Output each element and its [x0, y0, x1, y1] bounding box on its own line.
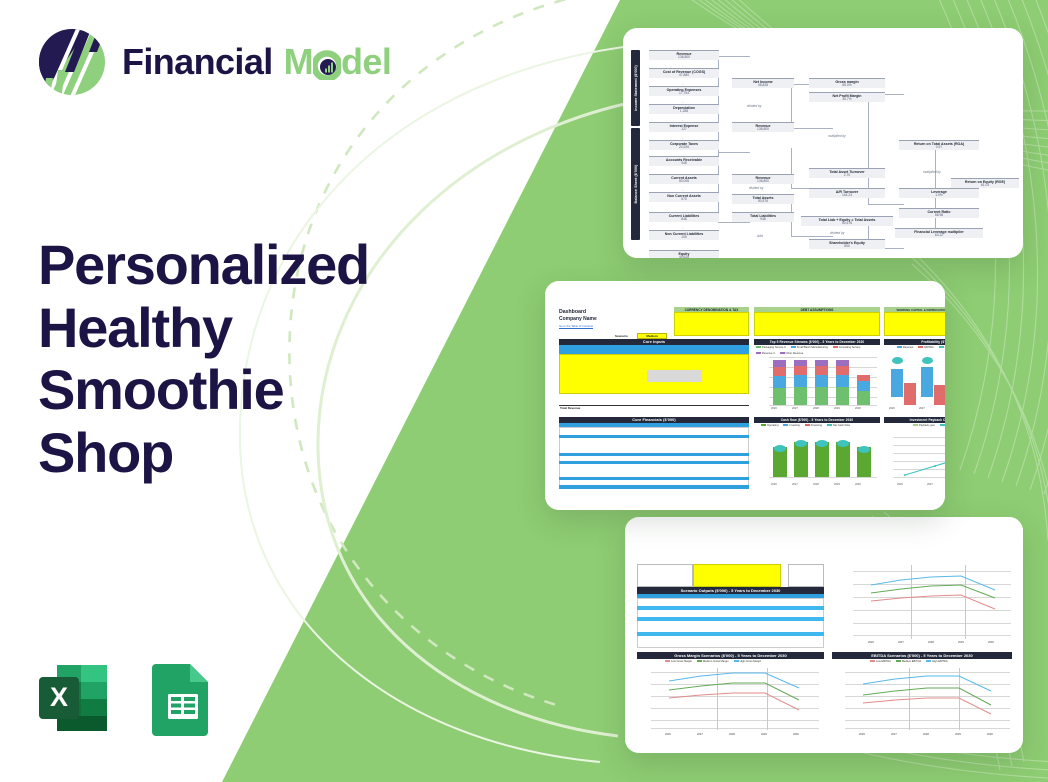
scenario-active-values	[788, 564, 824, 587]
dashboard-company-name: Company Name	[559, 316, 597, 322]
fc-box-col3-2: Total Asset Turnover 2.70	[809, 168, 885, 178]
dashboard-toc-link[interactable]: Go to the Table of Contents	[559, 324, 593, 328]
legend-revenue-streams: Packaging Service A Small Batch Manufact…	[756, 346, 880, 355]
fc-op-5: multiplied by	[923, 170, 941, 174]
panel-body-currency	[674, 312, 749, 336]
fc-box-col3-0: Gross margin 65.0%	[809, 78, 885, 88]
scenario-outputs-header: Scenario Outputs ($'000) - 5 Years to De…	[637, 587, 824, 594]
chart-title-profitability: Profitability ($'000) - 5 Years to Decem…	[884, 339, 945, 345]
screenshot-card-scenarios[interactable]: Scenario Outputs ($'000) - 5 Years to De…	[625, 517, 1023, 753]
fc-box-col1-11: Equity 49,628	[649, 250, 719, 258]
format-badges: X	[36, 660, 220, 736]
scenario-label: Scenario	[615, 334, 628, 338]
financial-model-circle-logo	[36, 26, 108, 98]
page-title: Personalized Healthy Smoothie Shop	[38, 234, 458, 485]
fc-box-col2-4: Total Liabilities 948	[732, 212, 794, 222]
fc-box-col1-9: Current Liabilities 848	[649, 212, 719, 222]
legend-ebitda: Low EBITDA Medium EBITDA High EBITDA	[870, 660, 1010, 663]
headline-line-1: Personalized	[38, 234, 458, 297]
legend-profitability: Revenue EBITDA EBITDA %	[897, 346, 945, 349]
fc-box-col3-1: Net Profit Margin 35.7%	[809, 92, 885, 102]
svg-text:X: X	[50, 682, 68, 712]
fc-op-4: divided by	[830, 231, 844, 235]
fc-box-col1-3: Depreciation 1,285	[649, 104, 719, 114]
legend-gross-margin: Low Gross Margin Medium Gross Margin Hig…	[665, 660, 815, 663]
fc-box-col2-1: Revenue 136,800	[732, 122, 794, 132]
fc-box-col5-0: Return on Equity (ROE) 61.03	[951, 178, 1019, 188]
scenario-input-values	[693, 564, 781, 587]
google-sheets-icon	[144, 660, 220, 736]
scenario-sheet: Scenario Outputs ($'000) - 5 Years to De…	[625, 517, 1023, 753]
headline-line-3: Smoothie	[38, 359, 458, 422]
chart-title-gross-margin-scenarios: Gross Margin Scenarios ($'000) - 5 Years…	[637, 652, 824, 659]
bar-chart-in-o-icon	[313, 44, 341, 80]
flowchart: Income Statement ($'000) Balance Sheet (…	[623, 28, 1023, 258]
fc-box-col1-1: Cost of Revenue (COGS) 47,880	[649, 68, 719, 78]
fc-box-col1-5: Corporate Taxes 20,926	[649, 140, 719, 150]
brand-wordmark: Financial M	[122, 44, 391, 80]
plot-gross-margin-scenarios	[651, 668, 819, 730]
band-balance-sheet: Balance Sheet ($'000)	[631, 128, 640, 240]
fc-op-0: divided by	[747, 104, 761, 108]
chart-title-revenue-streams: Top 5 Revenue Streams ($'000) - 5 Years …	[754, 339, 880, 345]
brand-word-financial: Financial	[122, 44, 273, 80]
fc-box-col1-0: Revenue 136,800	[649, 50, 719, 60]
fc-box-col1-2: Operating Expenses 17,754	[649, 86, 719, 96]
dashboard-title: Dashboard	[559, 309, 586, 315]
panel-body-debt	[754, 312, 880, 336]
screenshot-card-financial-flowchart[interactable]: Income Statement ($'000) Balance Sheet (…	[623, 28, 1023, 258]
plot-revenue-streams	[769, 357, 877, 405]
fc-box-col4-1: Leverage 1.9%	[899, 188, 979, 198]
plot-scenario-summary	[853, 565, 1011, 639]
brand-logo-row: Financial M	[36, 26, 391, 98]
legend-cash-flow: Operating Investing Financing Net Cash F…	[761, 424, 879, 427]
total-revenue-row: Total Revenue	[559, 405, 749, 410]
plot-ebitda-scenarios	[845, 668, 1010, 730]
screenshot-card-dashboard[interactable]: Dashboard Company Name Go to the Table o…	[545, 281, 945, 510]
fc-box-col4-0: Return on Total Assets (ROA) 0.97	[899, 140, 979, 150]
fc-box-col2-0: Net Income 48,828	[732, 78, 794, 88]
plot-payback	[893, 433, 945, 481]
fc-box-col4-3: Financial Leverage multiplier 63.22	[895, 228, 983, 238]
scenario-input-labels	[637, 564, 693, 587]
fc-box-col1-6: Accounts Receivable 948	[649, 156, 719, 166]
plot-cash-flow	[769, 433, 877, 481]
fc-box-col2-2: Revenue 136,800	[732, 174, 794, 184]
band-income-statement: Income Statement ($'000)	[631, 50, 640, 126]
brand-word-del: del	[341, 44, 391, 80]
hero-banner: Financial M	[0, 0, 1048, 782]
brand-word-m: M	[284, 44, 313, 80]
fc-op-2: divided by	[749, 186, 763, 190]
fc-box-col1-10: Non Current Liabilities 105	[649, 230, 719, 240]
microsoft-excel-icon: X	[36, 660, 112, 736]
legend-payback: Payback year Cumulative Cash Generated (…	[913, 424, 945, 427]
headline-line-2: Healthy	[38, 297, 458, 360]
panel-body-working-capital	[884, 312, 945, 336]
plot-profitability	[887, 357, 945, 405]
fc-box-col1-4: Interest Expense 127	[649, 122, 719, 132]
chart-title-cash-flow: Cash flow ($'000) - 5 Years to December …	[754, 417, 880, 423]
fc-box-col4-2: Current Ratio 58.98	[899, 208, 979, 218]
fc-box-col3-4: Total Liab + Equity = Total Assets 50,57…	[801, 216, 893, 226]
fc-box-col1-7: Current Assets 50,006	[649, 174, 719, 184]
chart-title-payback: Investment Payback Chart ($'000) - 5 Yea…	[884, 417, 945, 423]
headline-line-4: Shop	[38, 422, 458, 485]
chart-title-ebitda-scenarios: EBITDA Scenarios ($'000) - 5 Years to De…	[832, 652, 1012, 659]
dashboard: Dashboard Company Name Go to the Table o…	[545, 281, 945, 510]
core-inputs-blank-region	[647, 370, 702, 382]
left-content-column: Financial M	[0, 0, 470, 782]
fc-op-3: Add	[757, 234, 763, 238]
fc-box-col3-5: Shareholder's Equity 800	[809, 239, 885, 249]
fc-op-1: multiplied by	[828, 134, 846, 138]
fc-box-col3-3: A/R Turnover 144.24	[809, 188, 885, 198]
fc-box-col2-3: Total Assets 50,576	[732, 194, 794, 204]
fc-box-col1-8: Non Current Assets 570	[649, 192, 719, 202]
